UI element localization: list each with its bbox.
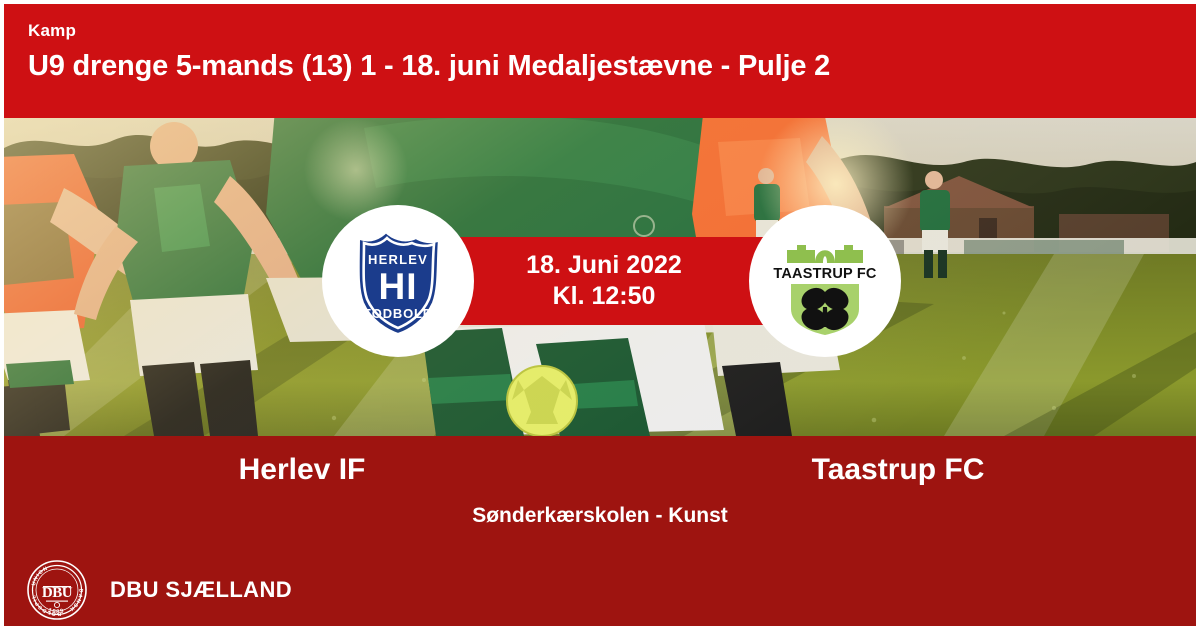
dbu-seal-wrapper: DANSK · BOLDSPIL · UNION 1889 DBU [26, 559, 88, 621]
home-team-name: Herlev IF [239, 453, 366, 487]
match-time: Kl. 12:50 [553, 281, 656, 313]
svg-text:FODBOLD: FODBOLD [363, 306, 433, 321]
home-team-crest: HERLEV HI FODBOLD [322, 205, 474, 357]
herlev-shield-icon: HERLEV HI FODBOLD [340, 223, 456, 339]
away-team-crest: TAASTRUP FC [749, 205, 901, 357]
page-title: U9 drenge 5-mands (13) 1 - 18. juni Meda… [28, 50, 1196, 83]
match-poster: Kamp U9 drenge 5-mands (13) 1 - 18. juni… [0, 0, 1200, 630]
dbu-seal-icon: DANSK · BOLDSPIL · UNION 1889 DBU [26, 559, 88, 621]
svg-text:TAASTRUP FC: TAASTRUP FC [773, 266, 876, 282]
poster-header: Kamp U9 drenge 5-mands (13) 1 - 18. juni… [4, 4, 1196, 118]
match-date: 18. Juni 2022 [526, 250, 682, 282]
header-kicker: Kamp [28, 22, 1196, 41]
federation-name: DBU SJÆLLAND [110, 577, 292, 603]
away-team-name: Taastrup FC [812, 453, 985, 487]
venue-row: Sønderkærskolen - Kunst [4, 504, 1196, 528]
away-team-name-slot: Taastrup FC [600, 444, 1196, 496]
svg-text:HERLEV: HERLEV [368, 252, 428, 267]
poster-footer: DANSK · BOLDSPIL · UNION 1889 DBU DBU SJ… [4, 549, 1196, 630]
taastrup-shield-icon: TAASTRUP FC [767, 223, 883, 339]
team-names-row: Herlev IF Taastrup FC [4, 444, 1196, 496]
venue-name: Sønderkærskolen - Kunst [472, 504, 728, 527]
svg-text:DBU: DBU [42, 585, 73, 601]
home-team-name-slot: Herlev IF [4, 444, 600, 496]
svg-text:HI: HI [379, 266, 418, 307]
